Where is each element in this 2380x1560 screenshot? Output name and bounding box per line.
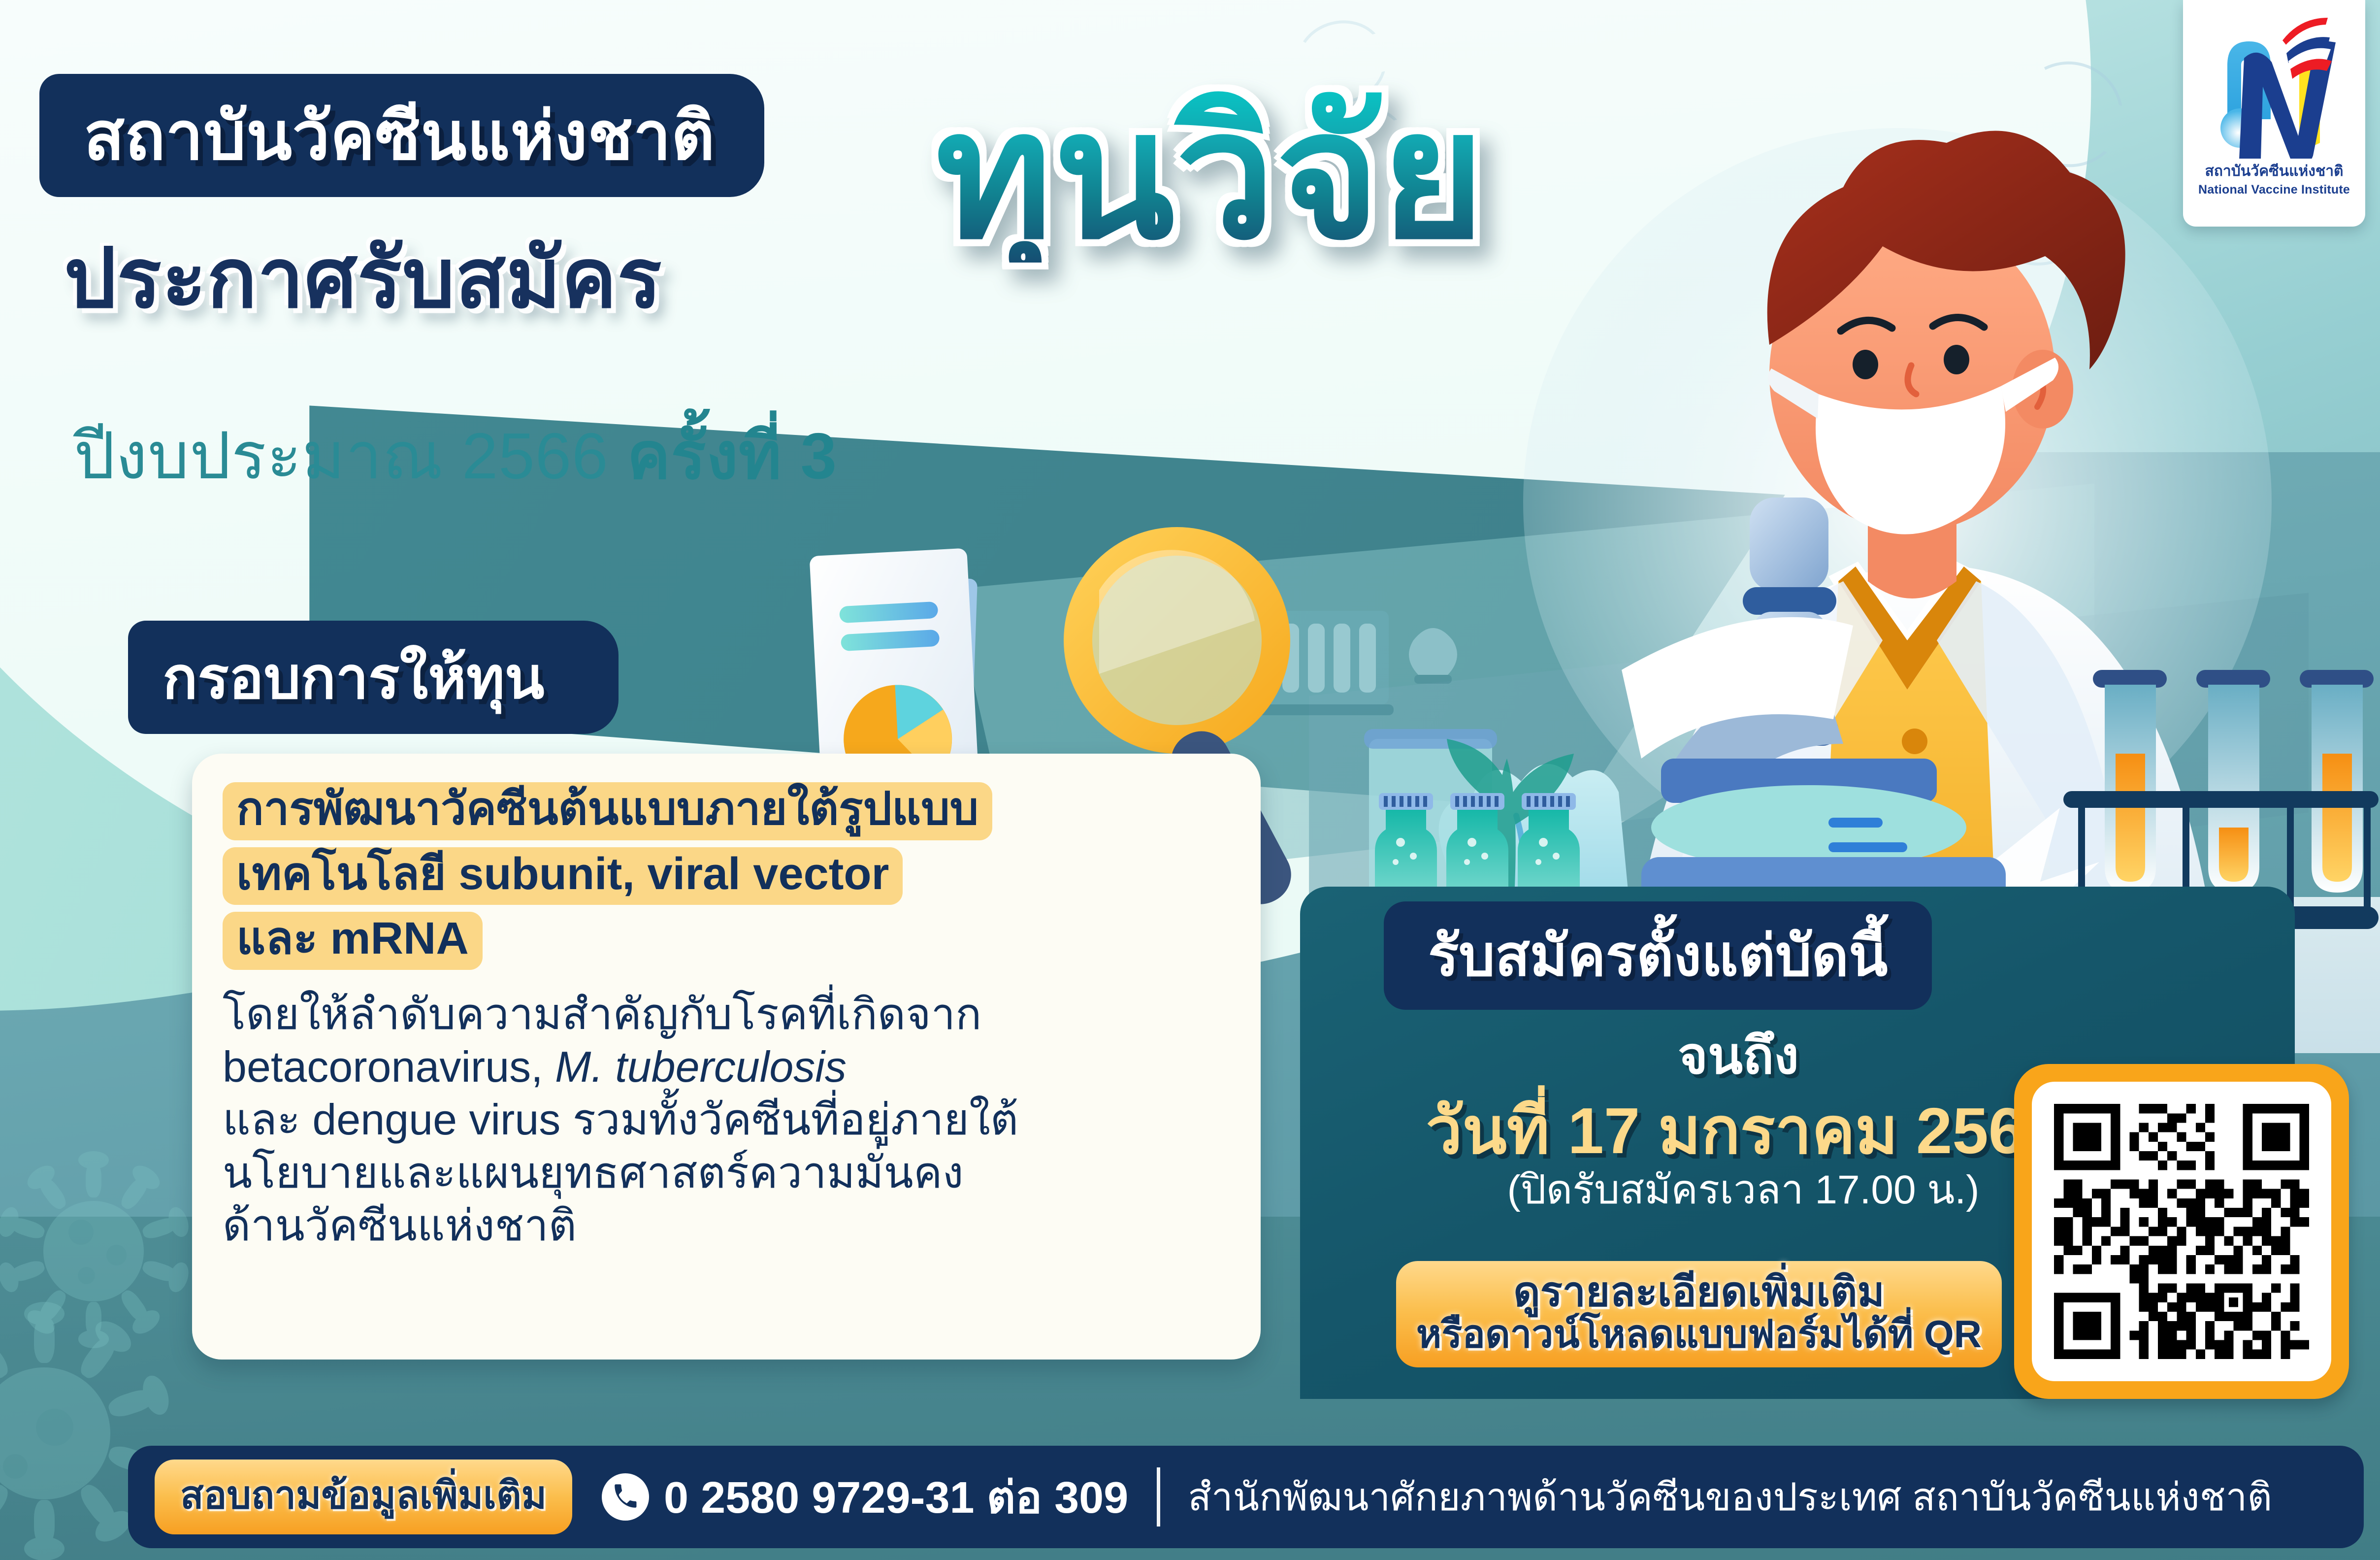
budget-year-line: ปีงบประมาณ 2566 ครั้งที่ 3 (74, 404, 837, 507)
nvi-logo: สถาบันวัคซีนแห่งชาติ National Vaccine In… (2183, 0, 2365, 227)
logo-english-label: National Vaccine Institute (2198, 183, 2350, 197)
qr-cta-button[interactable]: ดูรายละเอียดเพิ่มเติม หรือดาวน์โหลดแบบฟอ… (1396, 1261, 2002, 1367)
framework-pill-label: กรอบการให้ทุน (163, 631, 545, 724)
virus-motif-icon (0, 1330, 148, 1537)
contact-pill-label: สอบถามข้อมูลเพิ่มเติม (180, 1473, 547, 1517)
phone-icon (602, 1473, 649, 1521)
poster-root: สถาบันวัคซีนแห่งชาติ ประกาศรับสมัคร ทุนว… (0, 0, 2380, 1560)
apply-now-pill: รับสมัครตั้งแต่บัดนี้ (1384, 901, 1932, 1010)
department-label: สำนักพัฒนาศักยภาพด้านวัคซีนของประเทศ สถา… (1188, 1466, 2272, 1527)
apply-now-label: รับสมัครตั้งแต่บัดนี้ (1428, 910, 1888, 1001)
qr-cta-line2: หรือดาวน์โหลดแบบฟอร์มได้ที่ QR (1411, 1314, 1987, 1355)
framework-body-line: โดยให้ลำดับความสำคัญกับโรคที่เกิดจาก (223, 988, 1230, 1040)
budget-round-text: ครั้งที่ 3 (627, 420, 837, 492)
announce-heading: ประกาศรับสมัคร (64, 212, 662, 343)
apply-close-time: (ปิดรับสมัครเวลา 17.00 น.) (1369, 1158, 2118, 1222)
footer-divider (1157, 1467, 1160, 1527)
framework-italic-term: M. tuberculosis (555, 1042, 847, 1091)
framework-highlight-list: การพัฒนาวัคซีนต้นแบบภายใต้รูปแบบ เทคโนโล… (223, 782, 1230, 975)
phone-number: 0 2580 9729-31 ต่อ 309 (664, 1462, 1128, 1532)
framework-body-line: ด้านวัคซีนแห่งชาติ (223, 1199, 1230, 1252)
budget-year-text: ปีงบประมาณ 2566 (74, 420, 627, 492)
framework-highlight-line: การพัฒนาวัคซีนต้นแบบภายใต้รูปแบบ (223, 782, 992, 840)
qr-cta-line1: ดูรายละเอียดเพิ่มเติม (1411, 1270, 1987, 1314)
nvi-logo-mark-icon (2213, 11, 2336, 159)
qr-code-icon[interactable] (2032, 1082, 2331, 1381)
institute-name-label: สถาบันวัคซีนแห่งชาติ (84, 82, 715, 189)
page-title: ทุนวิจัย (936, 89, 1486, 263)
framework-highlight-line: เทคโนโลยี subunit, viral vector (223, 847, 903, 905)
logo-thai-label: สถาบันวัคซีนแห่งชาติ (2205, 160, 2343, 183)
qr-code-frame[interactable] (2014, 1064, 2349, 1399)
framework-card: การพัฒนาวัคซีนต้นแบบภายใต้รูปแบบ เทคโนโล… (192, 754, 1261, 1360)
framework-body-line: นโยบายและแผนยุทธศาสตร์ความมั่นคง (223, 1146, 1230, 1199)
footer-bar: สอบถามข้อมูลเพิ่มเติม 0 2580 9729-31 ต่อ… (128, 1446, 2364, 1548)
framework-highlight-line: และ mRNA (223, 912, 483, 970)
framework-body-line: betacoronavirus, M. tuberculosis (223, 1040, 1230, 1093)
phone-contact[interactable]: 0 2580 9729-31 ต่อ 309 (602, 1462, 1128, 1532)
contact-pill: สอบถามข้อมูลเพิ่มเติม (155, 1460, 572, 1534)
framework-body-text: โดยให้ลำดับความสำคัญกับโรคที่เกิดจาก bet… (223, 988, 1230, 1252)
framework-body-line: และ dengue virus รวมทั้งวัคซีนที่อยู่ภาย… (223, 1093, 1230, 1146)
institute-name-pill: สถาบันวัคซีนแห่งชาติ (39, 74, 764, 197)
framework-pill: กรอบการให้ทุน (128, 621, 619, 734)
